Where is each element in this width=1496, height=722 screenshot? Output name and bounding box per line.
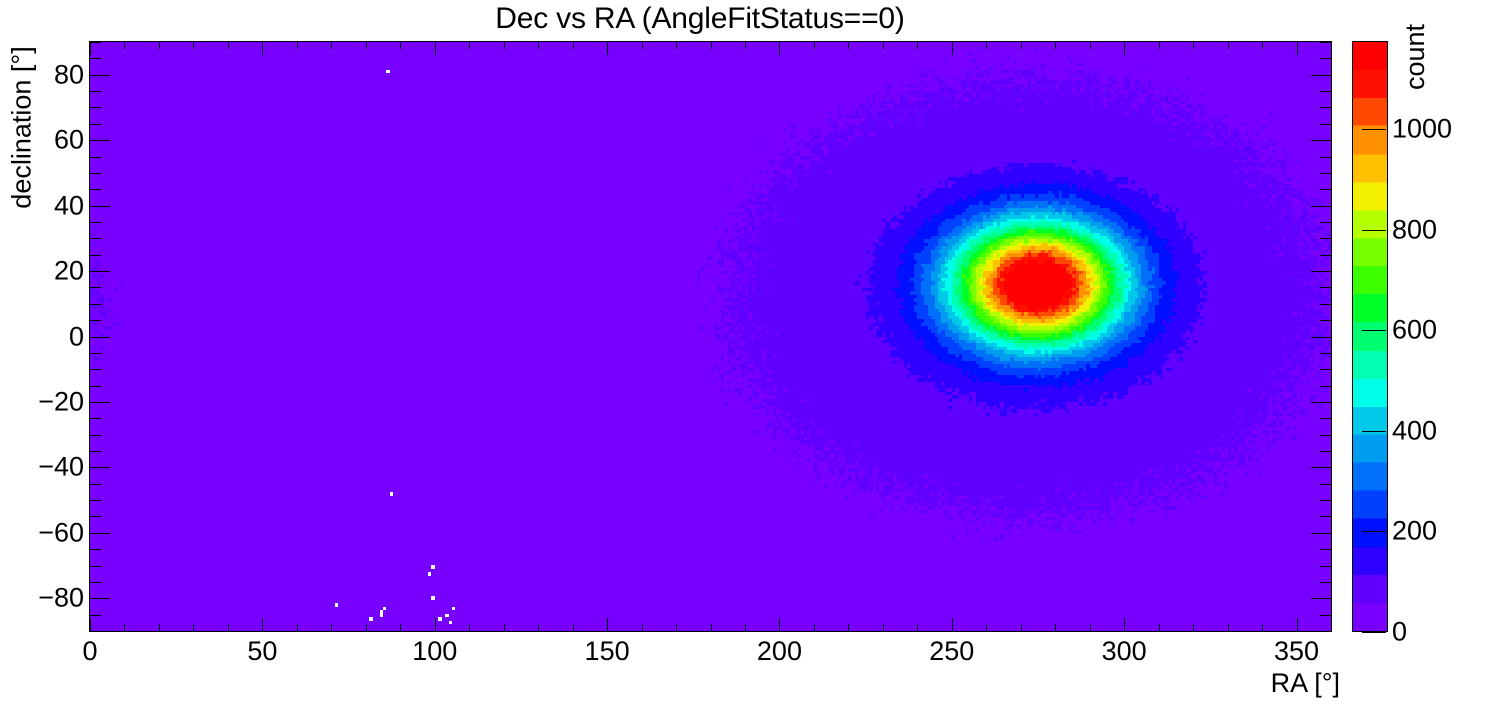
colorbar-tick-label: 400 — [1392, 415, 1437, 446]
y-tick-label: 0 — [69, 321, 84, 352]
y-tick-minor — [90, 386, 101, 387]
x-tick-minor — [711, 624, 712, 631]
y-tick-label: −60 — [38, 517, 84, 548]
x-tick-minor — [917, 624, 918, 631]
x-tick-minor-top — [1228, 42, 1229, 49]
y-tick-minor-right — [1320, 500, 1331, 501]
x-tick-label: 200 — [757, 636, 802, 667]
y-tick-minor — [90, 418, 101, 419]
y-tick-major-right — [1311, 467, 1331, 468]
x-tick-minor — [883, 624, 884, 631]
y-tick-label: 20 — [54, 256, 84, 287]
y-tick-minor-right — [1320, 91, 1331, 92]
x-tick-minor — [745, 624, 746, 631]
plot-canvas-root: Dec vs RA (AngleFitStatus==0) 0501001502… — [0, 0, 1496, 722]
y-tick-major — [90, 271, 110, 272]
y-tick-minor — [90, 615, 101, 616]
x-tick-minor — [400, 624, 401, 631]
y-tick-minor — [90, 516, 101, 517]
x-tick-minor — [1193, 624, 1194, 631]
x-tick-minor-top — [1159, 42, 1160, 49]
x-tick-minor — [848, 624, 849, 631]
x-tick-minor — [676, 624, 677, 631]
y-tick-minor — [90, 500, 101, 501]
x-tick-minor-top — [297, 42, 298, 49]
y-tick-minor — [90, 189, 101, 190]
colorbar-tick-label: 0 — [1392, 617, 1407, 648]
x-tick-minor-top — [228, 42, 229, 49]
x-tick-minor-top — [1021, 42, 1022, 49]
x-tick-minor-top — [538, 42, 539, 49]
y-tick-major-right — [1311, 598, 1331, 599]
x-tick-minor — [331, 624, 332, 631]
x-tick-label: 100 — [412, 636, 457, 667]
y-tick-minor — [90, 353, 101, 354]
colorbar-tick-label: 200 — [1392, 516, 1437, 547]
y-tick-minor — [90, 222, 101, 223]
colorbar-title: count — [1400, 24, 1431, 90]
x-tick-minor-top — [1331, 42, 1332, 49]
x-tick-major-top — [952, 42, 953, 55]
x-tick-minor — [504, 624, 505, 631]
y-tick-minor-right — [1320, 549, 1331, 550]
y-tick-label: −20 — [38, 386, 84, 417]
y-tick-minor-right — [1320, 42, 1331, 43]
y-tick-minor-right — [1320, 386, 1331, 387]
colorbar-tick — [1362, 431, 1386, 432]
y-tick-major — [90, 402, 110, 403]
y-tick-minor — [90, 124, 101, 125]
colorbar-tick-label: 600 — [1392, 315, 1437, 346]
x-tick-minor — [228, 624, 229, 631]
y-tick-major-right — [1311, 206, 1331, 207]
x-tick-major-top — [779, 42, 780, 55]
y-tick-minor — [90, 287, 101, 288]
x-tick-minor — [159, 624, 160, 631]
y-tick-minor-right — [1320, 58, 1331, 59]
y-tick-major — [90, 467, 110, 468]
y-tick-minor-right — [1320, 615, 1331, 616]
x-tick-minor-top — [1193, 42, 1194, 49]
colorbar-canvas — [1353, 42, 1387, 631]
x-tick-minor-top — [642, 42, 643, 49]
x-tick-minor-top — [366, 42, 367, 49]
y-tick-major — [90, 140, 110, 141]
x-tick-minor — [193, 624, 194, 631]
y-tick-minor-right — [1320, 418, 1331, 419]
y-tick-minor — [90, 304, 101, 305]
x-tick-label: 50 — [247, 636, 277, 667]
y-tick-minor-right — [1320, 222, 1331, 223]
y-tick-label: 40 — [54, 190, 84, 221]
x-tick-minor-top — [573, 42, 574, 49]
x-tick-minor — [124, 624, 125, 631]
x-tick-major — [90, 618, 91, 631]
y-tick-minor — [90, 238, 101, 239]
x-tick-minor — [642, 624, 643, 631]
x-tick-minor-top — [711, 42, 712, 49]
x-tick-major-top — [1297, 42, 1298, 55]
y-tick-minor-right — [1320, 189, 1331, 190]
y-tick-minor — [90, 58, 101, 59]
y-tick-minor-right — [1320, 304, 1331, 305]
y-tick-major-right — [1311, 140, 1331, 141]
y-tick-minor-right — [1320, 255, 1331, 256]
x-tick-minor — [1055, 624, 1056, 631]
x-axis-title: RA [°] — [1271, 668, 1340, 699]
y-tick-minor — [90, 566, 101, 567]
y-tick-major-right — [1311, 533, 1331, 534]
colorbar-tick — [1362, 230, 1386, 231]
y-tick-minor — [90, 255, 101, 256]
x-tick-minor-top — [745, 42, 746, 49]
y-tick-minor — [90, 451, 101, 452]
y-tick-major — [90, 598, 110, 599]
x-tick-major — [1297, 618, 1298, 631]
y-tick-minor-right — [1320, 516, 1331, 517]
x-tick-major — [262, 618, 263, 631]
y-tick-minor — [90, 173, 101, 174]
x-tick-major-top — [262, 42, 263, 55]
x-tick-minor — [573, 624, 574, 631]
x-tick-minor-top — [1090, 42, 1091, 49]
y-tick-minor-right — [1320, 566, 1331, 567]
x-tick-minor — [297, 624, 298, 631]
x-tick-minor — [986, 624, 987, 631]
x-tick-minor-top — [400, 42, 401, 49]
y-tick-minor-right — [1320, 353, 1331, 354]
y-axis-title: declination [°] — [7, 28, 38, 228]
y-tick-minor — [90, 484, 101, 485]
colorbar-tick — [1362, 632, 1386, 633]
colorbar-tick — [1362, 531, 1386, 532]
x-tick-label: 300 — [1102, 636, 1147, 667]
x-tick-minor-top — [124, 42, 125, 49]
x-tick-minor — [538, 624, 539, 631]
x-tick-minor — [469, 624, 470, 631]
colorbar-tick-label: 800 — [1392, 214, 1437, 245]
y-tick-minor-right — [1320, 238, 1331, 239]
y-tick-minor-right — [1320, 173, 1331, 174]
x-tick-label: 350 — [1274, 636, 1319, 667]
x-tick-major — [779, 618, 780, 631]
x-tick-minor-top — [1055, 42, 1056, 49]
x-tick-major — [435, 618, 436, 631]
x-tick-minor — [1228, 624, 1229, 631]
histogram-canvas — [90, 42, 1331, 631]
y-tick-major — [90, 75, 110, 76]
x-tick-minor-top — [986, 42, 987, 49]
y-tick-label: −80 — [38, 583, 84, 614]
y-tick-minor-right — [1320, 320, 1331, 321]
y-tick-major-right — [1311, 75, 1331, 76]
x-tick-minor — [1331, 624, 1332, 631]
x-tick-label: 250 — [929, 636, 974, 667]
y-tick-label: 60 — [54, 125, 84, 156]
x-tick-major-top — [90, 42, 91, 55]
y-tick-minor-right — [1320, 124, 1331, 125]
y-tick-label: −40 — [38, 452, 84, 483]
x-tick-minor — [1021, 624, 1022, 631]
y-tick-major — [90, 337, 110, 338]
y-tick-minor-right — [1320, 369, 1331, 370]
page-title: Dec vs RA (AngleFitStatus==0) — [0, 2, 1400, 36]
x-tick-minor — [1090, 624, 1091, 631]
x-tick-minor-top — [917, 42, 918, 49]
x-tick-minor-top — [193, 42, 194, 49]
y-tick-minor — [90, 157, 101, 158]
x-tick-label: 150 — [585, 636, 630, 667]
y-tick-minor — [90, 91, 101, 92]
y-tick-major-right — [1311, 271, 1331, 272]
x-tick-minor-top — [159, 42, 160, 49]
x-tick-minor-top — [469, 42, 470, 49]
x-tick-minor-top — [848, 42, 849, 49]
x-tick-minor-top — [1262, 42, 1263, 49]
y-tick-minor-right — [1320, 582, 1331, 583]
x-tick-major-top — [607, 42, 608, 55]
colorbar-tick — [1362, 330, 1386, 331]
x-tick-major-top — [435, 42, 436, 55]
y-tick-minor — [90, 582, 101, 583]
y-tick-minor — [90, 435, 101, 436]
x-tick-minor-top — [883, 42, 884, 49]
y-tick-minor-right — [1320, 287, 1331, 288]
y-tick-minor-right — [1320, 451, 1331, 452]
plot-frame — [89, 41, 1332, 632]
x-tick-major — [952, 618, 953, 631]
x-tick-label: 0 — [82, 636, 97, 667]
x-tick-minor-top — [814, 42, 815, 49]
x-tick-major-top — [1124, 42, 1125, 55]
x-tick-minor — [1262, 624, 1263, 631]
x-tick-minor-top — [676, 42, 677, 49]
y-tick-minor-right — [1320, 157, 1331, 158]
y-tick-minor — [90, 549, 101, 550]
y-tick-minor-right — [1320, 107, 1331, 108]
x-tick-major — [607, 618, 608, 631]
y-tick-minor-right — [1320, 484, 1331, 485]
x-tick-minor — [814, 624, 815, 631]
x-tick-minor-top — [331, 42, 332, 49]
y-tick-minor — [90, 369, 101, 370]
y-tick-minor — [90, 42, 101, 43]
y-tick-major-right — [1311, 337, 1331, 338]
x-tick-minor — [1159, 624, 1160, 631]
y-tick-minor-right — [1320, 435, 1331, 436]
colorbar-tick — [1362, 129, 1386, 130]
x-tick-minor-top — [504, 42, 505, 49]
y-tick-major-right — [1311, 402, 1331, 403]
y-tick-label: 80 — [54, 59, 84, 90]
colorbar-tick-label: 1000 — [1392, 114, 1452, 145]
y-tick-major — [90, 206, 110, 207]
x-tick-minor — [366, 624, 367, 631]
y-tick-major — [90, 533, 110, 534]
y-tick-minor — [90, 320, 101, 321]
x-tick-major — [1124, 618, 1125, 631]
y-tick-minor — [90, 107, 101, 108]
